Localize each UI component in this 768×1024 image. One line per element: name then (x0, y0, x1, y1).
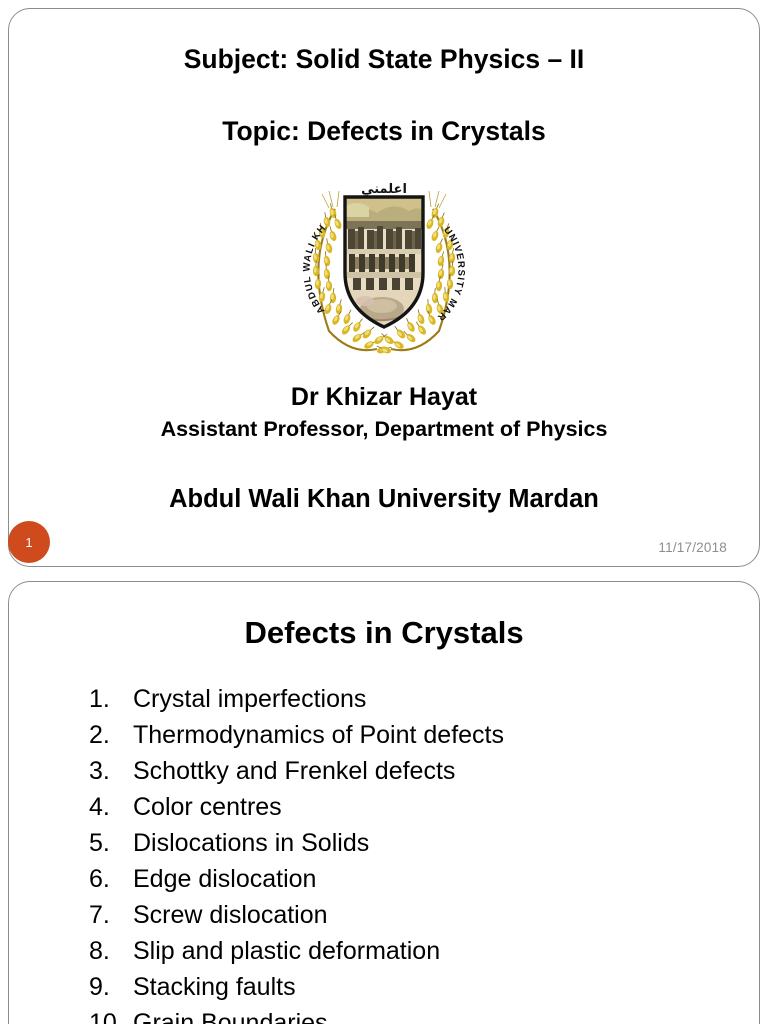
institution-name: Abdul Wali Khan University Mardan (9, 483, 759, 515)
list-item: 2.Thermodynamics of Point defects (89, 721, 729, 757)
list-item-label: Dislocations in Solids (133, 829, 369, 858)
list-item-label: Stacking faults (133, 973, 296, 1002)
presenter-role: Assistant Professor, Department of Physi… (9, 415, 759, 443)
page-number-badge: 1 (8, 521, 50, 563)
list-item-label: Edge dislocation (133, 865, 316, 894)
slide-date-stamp: 11/17/2018 (658, 540, 727, 555)
list-item-number: 1. (89, 685, 133, 714)
slide-2[interactable]: Defects in Crystals 1.Crystal imperfecti… (8, 581, 760, 1024)
defects-topics-list: 1.Crystal imperfections2.Thermodynamics … (89, 685, 729, 1024)
presenter-name: Dr Khizar Hayat (9, 382, 759, 412)
slide-2-title: Defects in Crystals (9, 614, 759, 652)
list-item: 1.Crystal imperfections (89, 685, 729, 721)
list-item-label: Slip and plastic deformation (133, 937, 440, 966)
subject-line: Subject: Solid State Physics – II (9, 43, 759, 75)
list-item-label: Schottky and Frenkel defects (133, 757, 455, 786)
list-item-number: 10 (89, 1009, 133, 1024)
list-item: 4.Color centres (89, 793, 729, 829)
list-item: 5.Dislocations in Solids (89, 829, 729, 865)
list-item: 9.Stacking faults (89, 973, 729, 1009)
slide-1-title-block: Subject: Solid State Physics – II Topic:… (9, 43, 759, 147)
list-item-number: 2. (89, 721, 133, 750)
list-item-number: 6. (89, 865, 133, 894)
slides-handout-page: Subject: Solid State Physics – II Topic:… (0, 0, 768, 1024)
list-item: 8.Slip and plastic deformation (89, 937, 729, 973)
list-item: 3.Schottky and Frenkel defects (89, 757, 729, 793)
list-item-number: 3. (89, 757, 133, 786)
crest-shield-icon (343, 195, 427, 327)
topic-line: Topic: Defects in Crystals (9, 115, 759, 147)
list-item-number: 7. (89, 901, 133, 930)
list-item: 7.Screw dislocation (89, 901, 729, 937)
list-item-label: Thermodynamics of Point defects (133, 721, 504, 750)
list-item-number: 5. (89, 829, 133, 858)
list-item-number: 8. (89, 937, 133, 966)
list-item: 6.Edge dislocation (89, 865, 729, 901)
list-item-label: Crystal imperfections (133, 685, 366, 714)
university-crest-logo: اعلمني ABDUL WALI KHAN UNIVERSITY MARDAN (269, 169, 499, 369)
list-item-number: 9. (89, 973, 133, 1002)
slide-1[interactable]: Subject: Solid State Physics – II Topic:… (8, 8, 760, 567)
list-item-number: 4. (89, 793, 133, 822)
list-item-label: Color centres (133, 793, 282, 822)
list-item-label: Grain Boundaries (133, 1009, 328, 1024)
list-item-label: Screw dislocation (133, 901, 328, 930)
crest-arabic-script: اعلمني (361, 182, 407, 197)
list-item: 10Grain Boundaries (89, 1009, 729, 1024)
university-crest-svg: اعلمني ABDUL WALI KHAN UNIVERSITY MARDAN (269, 169, 499, 369)
